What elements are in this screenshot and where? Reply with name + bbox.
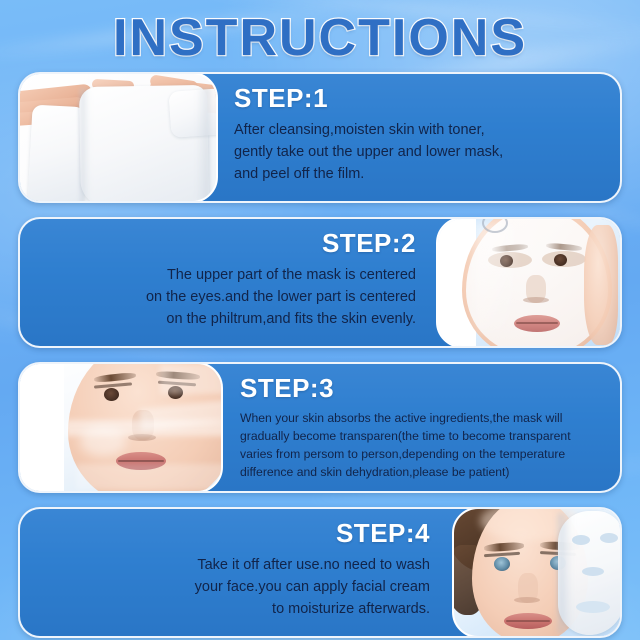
step-3-heading: STEP:3 xyxy=(240,374,598,403)
step-4-line: Take it off after use.no need to wash xyxy=(48,554,430,576)
step-1-heading: STEP:1 xyxy=(234,84,596,113)
step-panel-4: STEP:4 Take it off after use.no need to … xyxy=(18,507,622,638)
step-4-heading: STEP:4 xyxy=(48,519,430,548)
step-4-image xyxy=(452,507,622,638)
step-panel-2: STEP:2 The upper part of the mask is cen… xyxy=(18,217,622,348)
step-3-body: When your skin absorbs the active ingred… xyxy=(240,409,598,482)
step-3-line: gradually become transparen(the time to … xyxy=(240,427,598,445)
step-1-body: After cleansing,moisten skin with toner,… xyxy=(234,119,596,185)
step-2-image xyxy=(436,217,622,348)
step-1-line: After cleansing,moisten skin with toner, xyxy=(234,119,596,141)
step-2-body: The upper part of the mask is centered o… xyxy=(48,264,416,330)
step-4-text: STEP:4 Take it off after use.no need to … xyxy=(34,509,444,638)
step-1-text: STEP:1 After cleansing,moisten skin with… xyxy=(220,74,610,203)
step-4-body: Take it off after use.no need to wash yo… xyxy=(48,554,430,620)
step-2-heading: STEP:2 xyxy=(48,229,416,258)
page-title: INSTRUCTIONS xyxy=(0,8,640,68)
step-3-line: difference and skin dehydration,please b… xyxy=(240,463,598,481)
step-2-line: on the philtrum,and fits the skin evenly… xyxy=(48,308,416,330)
step-3-image xyxy=(18,362,223,493)
instructions-poster: INSTRUCTIONS xyxy=(0,0,640,640)
step-4-line: your face.you can apply facial cream xyxy=(48,576,430,598)
step-panel-1: STEP:1 After cleansing,moisten skin with… xyxy=(18,72,622,203)
step-2-text: STEP:2 The upper part of the mask is cen… xyxy=(34,219,430,348)
step-3-line: varies from persom to person,depending o… xyxy=(240,445,598,463)
step-1-line: and peel off the film. xyxy=(234,163,596,185)
step-2-line: The upper part of the mask is centered xyxy=(48,264,416,286)
step-3-line: When your skin absorbs the active ingred… xyxy=(240,409,598,427)
step-1-image xyxy=(18,72,218,203)
step-1-line: gently take out the upper and lower mask… xyxy=(234,141,596,163)
step-4-line: to moisturize afterwards. xyxy=(48,598,430,620)
step-3-text: STEP:3 When your skin absorbs the active… xyxy=(226,364,612,493)
step-2-line: on the eyes.and the lower part is center… xyxy=(48,286,416,308)
step-panel-3: STEP:3 When your skin absorbs the active… xyxy=(18,362,622,493)
